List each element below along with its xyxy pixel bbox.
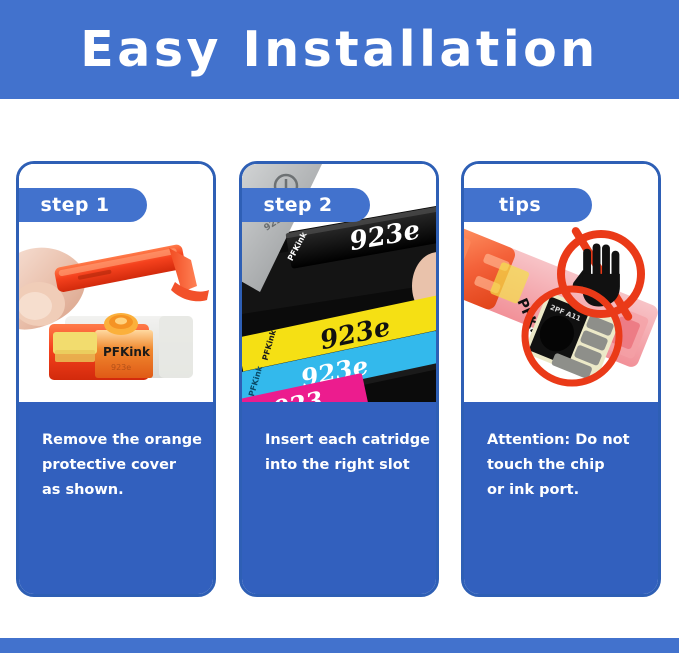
step-card-1: PFKink 923e step 1 Remove the orange pro… [16,161,216,597]
caption-line: touch the chip [487,453,639,478]
page-title: Easy Installation [80,25,598,74]
brand-label: PFKink [103,345,151,359]
step-card-1-caption: Remove the orange protective cover as sh… [19,402,213,594]
caption-line: protective cover [42,453,194,478]
step-card-1-pill: step 1 [17,188,147,222]
step-card-3-pill-label: tips [499,194,555,216]
caption-line: Attention: Do not [487,428,639,453]
step-card-2-caption: Insert each catridge into the right slot [242,402,436,594]
caption-line: into the right slot [265,453,417,478]
step-card-1-pill-label: step 1 [40,194,123,216]
step-card-3: PFKink 2PF A11 [461,161,661,597]
step-card-3-caption: Attention: Do not touch the chip or ink … [464,402,658,594]
step-card-2: 923 923e PFKink 923e PFKin [239,161,439,597]
footer-bar [0,638,679,653]
step-card-2-pill-label: step 2 [263,194,346,216]
installation-steps-row: PFKink 923e step 1 Remove the orange pro… [0,99,679,638]
header-banner: Easy Installation [0,0,679,99]
step-card-3-pill: tips [462,188,592,222]
caption-line: Remove the orange [42,428,194,453]
caption-line: or ink port. [487,478,639,503]
svg-text:923e: 923e [111,363,131,372]
caption-line: Insert each catridge [265,428,417,453]
step-card-2-pill: step 2 [240,188,370,222]
caption-line: as shown. [42,478,194,503]
